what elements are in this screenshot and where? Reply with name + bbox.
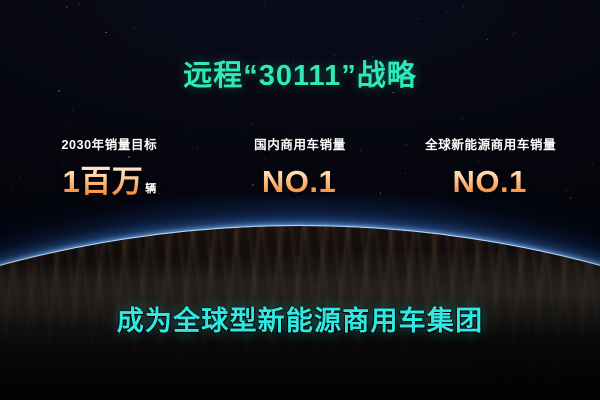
stat-value-number: NO.1 <box>453 164 527 199</box>
stat-value: NO.1 <box>262 166 338 197</box>
slide-content: 远程“30111”战略 2030年销量目标 1百万辆 国内商用车销量 NO.1 … <box>0 0 600 400</box>
stat-item-sales-target: 2030年销量目标 1百万辆 <box>14 134 205 197</box>
stat-label: 全球新能源商用车销量 <box>395 134 586 153</box>
stat-value: NO.1 <box>453 166 529 197</box>
stat-item-global-nev-rank: 全球新能源商用车销量 NO.1 <box>395 134 586 197</box>
stat-value-unit: 辆 <box>145 183 156 195</box>
stat-value-number: NO.1 <box>262 164 336 199</box>
stat-item-domestic-rank: 国内商用车销量 NO.1 <box>205 134 396 197</box>
stat-label: 国内商用车销量 <box>205 134 396 153</box>
stat-value-number: 1百万 <box>62 164 143 199</box>
stat-label: 2030年销量目标 <box>14 134 205 153</box>
slide-headline: 远程“30111”战略 <box>0 52 600 94</box>
strategy-slide: 远程“30111”战略 2030年销量目标 1百万辆 国内商用车销量 NO.1 … <box>0 0 600 400</box>
slide-tagline: 成为全球型新能源商用车集团 <box>0 299 600 338</box>
stats-row: 2030年销量目标 1百万辆 国内商用车销量 NO.1 全球新能源商用车销量 N… <box>0 134 600 197</box>
stat-value: 1百万辆 <box>62 166 156 197</box>
